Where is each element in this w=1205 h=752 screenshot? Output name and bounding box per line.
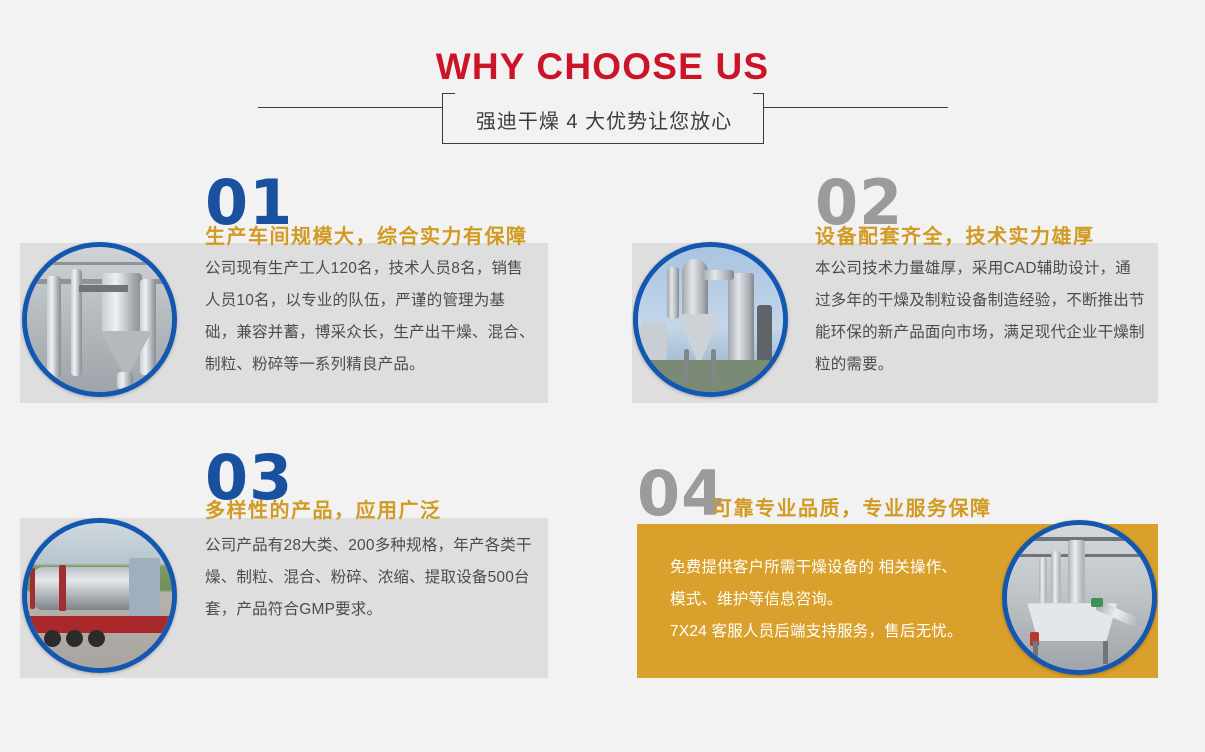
divider-line-left — [258, 107, 442, 108]
card-04-body-line-3: 7X24 客服人员后端支持服务，售后无忧。 — [670, 616, 1020, 648]
spray-dryer-workshop-photo — [22, 242, 177, 397]
card-04-body-line-1: 免费提供客户所需干燥设备的 相关操作、 — [670, 552, 1020, 584]
card-02-heading: 设备配套齐全，技术实力雄厚 — [815, 220, 1095, 249]
card-02-body: 本公司技术力量雄厚，采用CAD辅助设计，通过多年的干燥及制粒设备制造经验，不断推… — [815, 253, 1145, 381]
card-01-body: 公司现有生产工人120名，技术人员8名，销售人员10名，以专业的队伍，严谨的管理… — [205, 253, 535, 381]
fluid-bed-plant-photo — [1002, 520, 1157, 675]
card-01-heading: 生产车间规模大，综合实力有保障 — [205, 220, 528, 249]
outdoor-cyclone-dryer-photo — [633, 242, 788, 397]
card-03-body: 公司产品有28大类、200多种规格，年产各类干燥、制粒、混合、粉碎、浓缩、提取设… — [205, 530, 535, 626]
page-subtitle: 强迪干燥 4 大优势让您放心 — [443, 94, 765, 145]
card-04-heading: 可靠专业品质，专业服务保障 — [712, 492, 992, 521]
page-title: WHY CHOOSE US — [0, 46, 1205, 88]
subtitle-box: 强迪干燥 4 大优势让您放心 — [442, 93, 764, 144]
card-03-heading: 多样性的产品，应用广泛 — [205, 494, 442, 523]
rotary-dryer-on-truck-photo — [22, 518, 177, 673]
divider-line-right — [763, 107, 948, 108]
why-choose-us-page: WHY CHOOSE US 强迪干燥 4 大优势让您放心 01 生产车间规模大，… — [0, 0, 1205, 752]
page-header: WHY CHOOSE US 强迪干燥 4 大优势让您放心 — [0, 0, 1205, 160]
card-04-body-line-2: 模式、维护等信息咨询。 — [670, 584, 1020, 616]
card-04-body: 免费提供客户所需干燥设备的 相关操作、 模式、维护等信息咨询。 7X24 客服人… — [670, 552, 1020, 648]
